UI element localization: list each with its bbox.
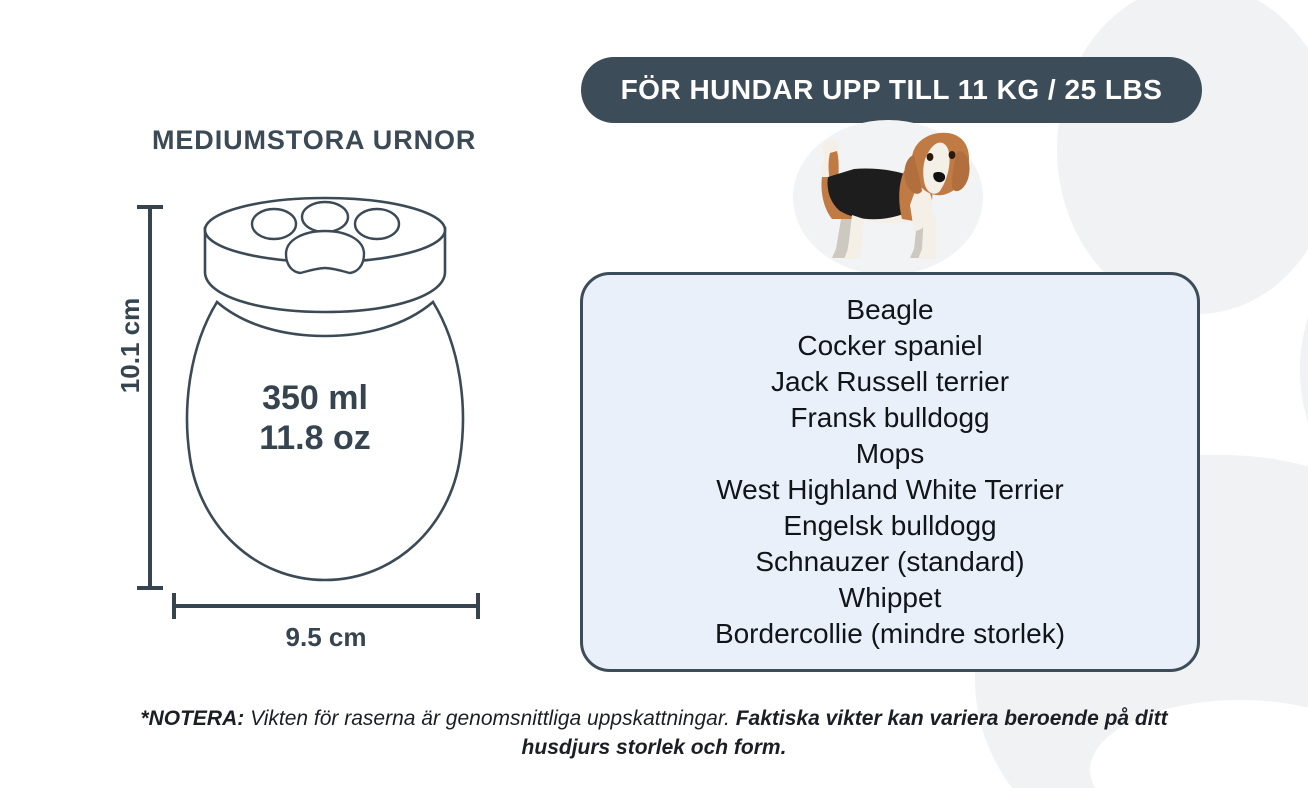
dog-eye-right: [949, 151, 956, 159]
paw-toe-middle: [302, 202, 348, 232]
list-item: Engelsk bulldogg: [583, 508, 1197, 544]
dog-eye-left: [927, 153, 934, 161]
paw-toe-right: [355, 209, 399, 239]
list-item: Beagle: [583, 292, 1197, 328]
list-item: West Highland White Terrier: [583, 472, 1197, 508]
width-dimension-line: [172, 604, 480, 608]
urn-volume-block: 350 ml 11.8 oz: [180, 378, 450, 458]
breed-list: Beagle Cocker spaniel Jack Russell terri…: [583, 292, 1197, 652]
breed-list-card: Beagle Cocker spaniel Jack Russell terri…: [580, 272, 1200, 672]
urn-volume-oz: 11.8 oz: [180, 418, 450, 458]
list-item: Fransk bulldogg: [583, 400, 1197, 436]
paw-toe-left: [252, 209, 296, 239]
footnote-label: *NOTERA:: [140, 707, 244, 730]
paw-pad: [286, 231, 364, 273]
urn-panel-title: MEDIUMSTORA URNOR: [152, 125, 476, 156]
width-dimension-label: 9.5 cm: [172, 622, 480, 653]
height-dimension-line: [148, 205, 152, 590]
background-blob-top-right: [1057, 0, 1308, 314]
urn-volume-ml: 350 ml: [180, 378, 450, 418]
height-dimension-label: 10.1 cm: [115, 298, 146, 393]
weight-range-banner: FÖR HUNDAR UPP TILL 11 KG / 25 LBS: [581, 57, 1202, 123]
footnote: *NOTERA: Vikten för raserna är genomsnit…: [104, 704, 1204, 762]
infographic-root: MEDIUMSTORA URNOR 10.1 cm 350 ml 11.8 oz: [0, 0, 1308, 788]
list-item: Cocker spaniel: [583, 328, 1197, 364]
footnote-normal-text: Vikten för raserna är genomsnittliga upp…: [244, 707, 735, 730]
urn-panel: MEDIUMSTORA URNOR 10.1 cm 350 ml 11.8 oz: [0, 0, 560, 690]
beagle-dog-icon: [806, 127, 971, 267]
weight-range-banner-text: FÖR HUNDAR UPP TILL 11 KG / 25 LBS: [621, 74, 1163, 106]
list-item: Jack Russell terrier: [583, 364, 1197, 400]
list-item: Bordercollie (mindre storlek): [583, 616, 1197, 652]
list-item: Mops: [583, 436, 1197, 472]
list-item: Whippet: [583, 580, 1197, 616]
list-item: Schnauzer (standard): [583, 544, 1197, 580]
